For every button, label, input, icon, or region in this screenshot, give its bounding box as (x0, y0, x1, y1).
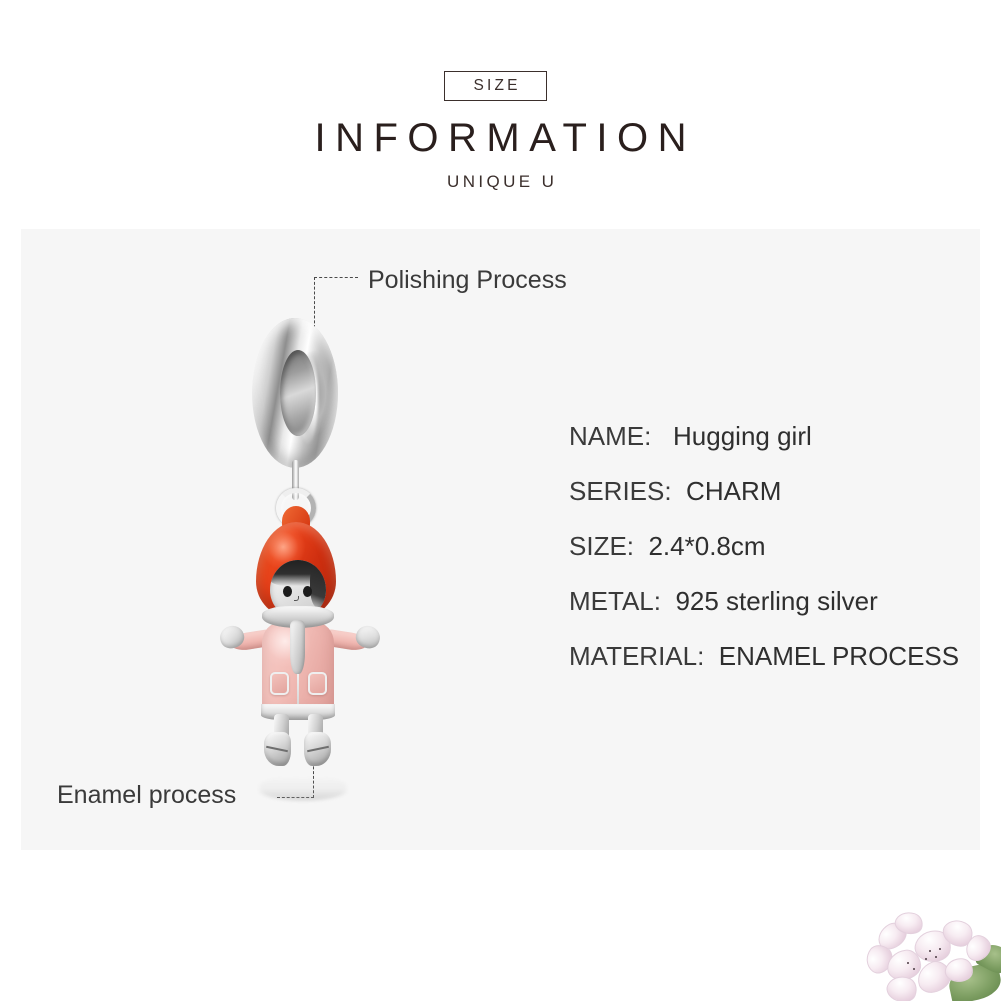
spec-row: SERIES: CHARM (569, 464, 969, 519)
coat-pocket-right (308, 672, 327, 695)
callout-label-polishing: Polishing Process (368, 265, 567, 295)
size-badge: SIZE (444, 71, 547, 101)
spec-row: NAME: Hugging girl (569, 409, 969, 464)
page-subtitle: UNIQUE U (0, 170, 1001, 194)
spec-row: METAL: 925 sterling silver (569, 574, 969, 629)
eye-right (303, 586, 312, 597)
size-badge-label: SIZE (470, 77, 520, 95)
spec-row: MATERIAL: ENAMEL PROCESS (569, 629, 969, 684)
product-image-charm (218, 300, 408, 800)
hair-side (310, 564, 326, 608)
product-info-graphic: SIZE INFORMATION UNIQUE U Polishing Proc… (0, 0, 1001, 1001)
spec-value-size: 2.4*0.8cm (648, 531, 765, 561)
callout-label-enamel: Enamel process (57, 780, 236, 810)
spec-key-name: NAME: (569, 421, 651, 451)
spec-value-name: Hugging girl (673, 421, 812, 451)
charm-reflection (260, 775, 346, 800)
nose (294, 596, 299, 601)
polishing-leader-horizontal (314, 277, 358, 278)
eye-left (283, 586, 292, 597)
page-title: INFORMATION (0, 113, 1001, 163)
coat-hem (261, 704, 335, 720)
coat-pocket-left (270, 672, 289, 695)
spec-value-material: ENAMEL PROCESS (719, 641, 959, 671)
spec-row: SIZE: 2.4*0.8cm (569, 519, 969, 574)
spec-key-series: SERIES: (569, 476, 672, 506)
spec-value-series: CHARM (686, 476, 781, 506)
spec-value-metal: 925 sterling silver (675, 586, 877, 616)
spec-key-material: MATERIAL: (569, 641, 704, 671)
cherry-blossom-decoration (861, 906, 1001, 1001)
header: SIZE INFORMATION UNIQUE U (0, 0, 1001, 229)
bail-hole (280, 350, 316, 436)
specifications-list: NAME: Hugging girl SERIES: CHARM SIZE: 2… (569, 409, 969, 684)
scarf-tail (290, 620, 305, 674)
spec-key-metal: METAL: (569, 586, 661, 616)
spec-key-size: SIZE: (569, 531, 634, 561)
